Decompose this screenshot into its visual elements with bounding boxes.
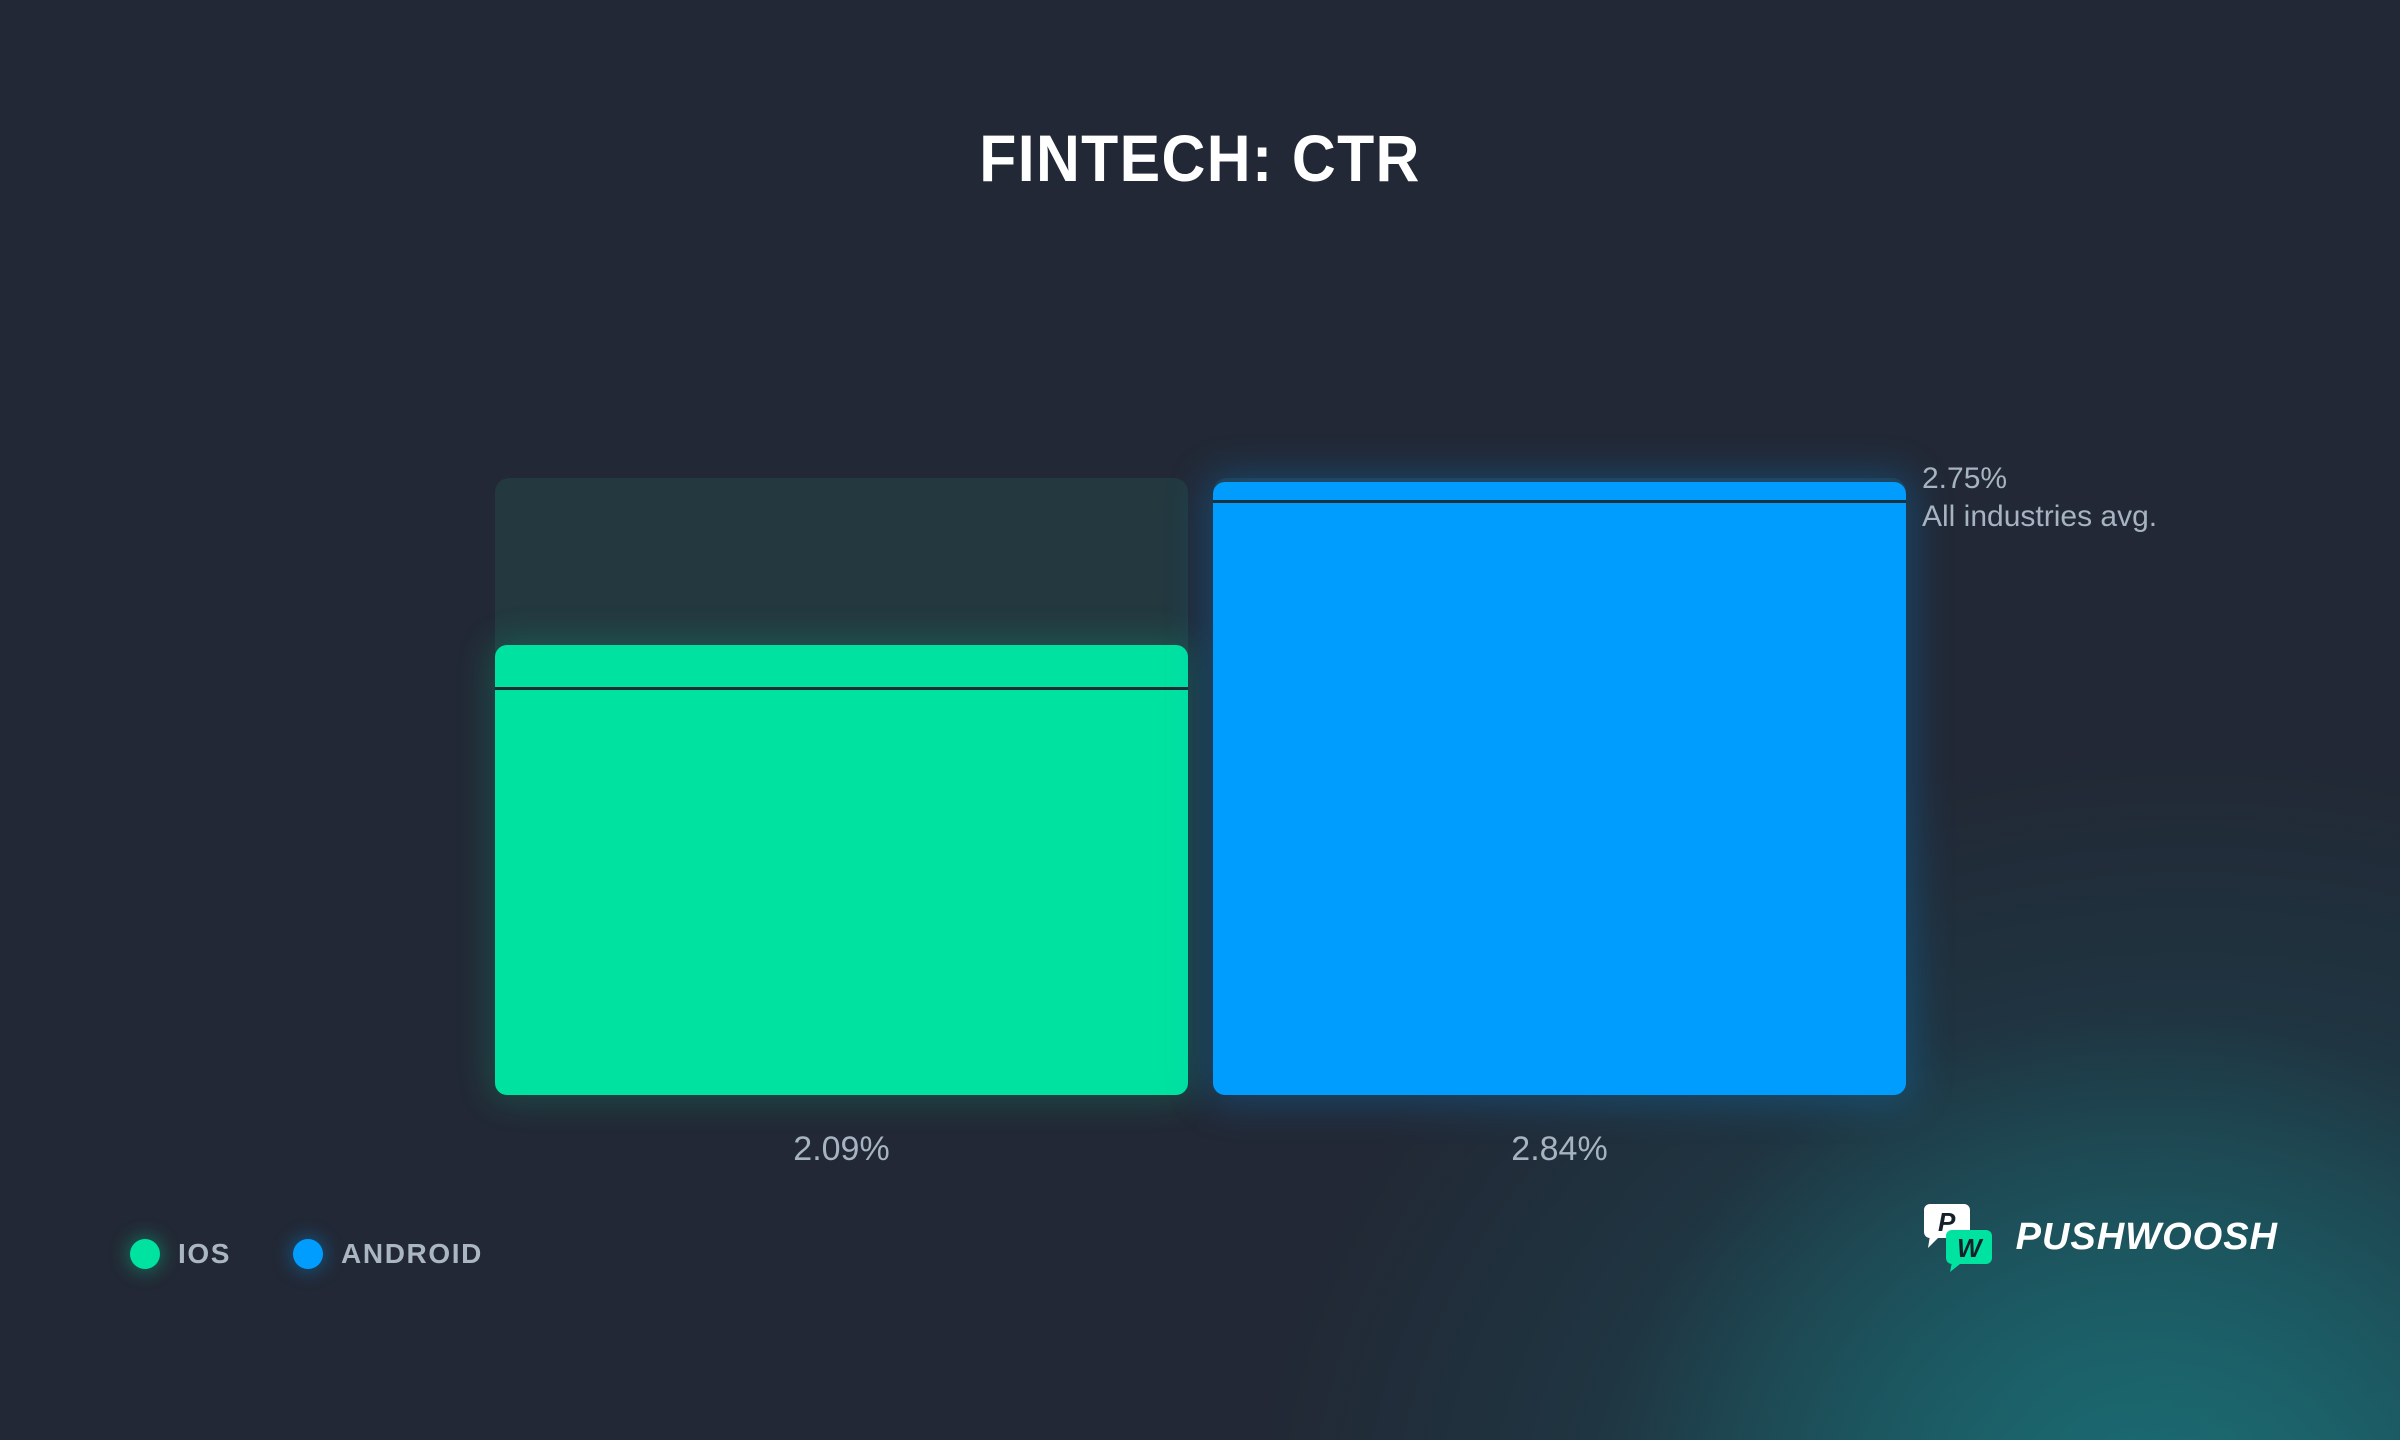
- avg-label-android: 2.75% All industries avg.: [1922, 460, 2157, 536]
- brand-name: PUSHWOOSH: [2016, 1216, 2278, 1259]
- bar-fill-ios[interactable]: [495, 645, 1188, 1095]
- legend-label-android: ANDROID: [341, 1238, 483, 1270]
- dot-icon: [293, 1239, 323, 1269]
- chart-legend: IOS ANDROID: [130, 1238, 483, 1270]
- dot-icon: [130, 1239, 160, 1269]
- legend-item-android[interactable]: ANDROID: [293, 1238, 483, 1270]
- avg-caption-android: All industries avg.: [1922, 498, 2157, 536]
- chart-canvas: FINTECH: CTR 1.71% All industries avg. 2…: [0, 0, 2400, 1440]
- avg-line-ios: [495, 687, 1188, 690]
- avg-pct-android: 2.75%: [1922, 460, 2157, 498]
- bar-fill-android[interactable]: [1213, 482, 1906, 1095]
- bar-value-android: 2.84%: [1213, 1130, 1906, 1169]
- avg-line-android: [1213, 500, 1906, 503]
- bar-value-ios: 2.09%: [495, 1130, 1188, 1169]
- legend-label-ios: IOS: [178, 1238, 231, 1270]
- svg-text:W: W: [1957, 1233, 1984, 1263]
- brand-logo[interactable]: P W PUSHWOOSH: [1920, 1202, 2278, 1272]
- pushwoosh-mark-icon: P W: [1920, 1202, 1998, 1272]
- legend-item-ios[interactable]: IOS: [130, 1238, 231, 1270]
